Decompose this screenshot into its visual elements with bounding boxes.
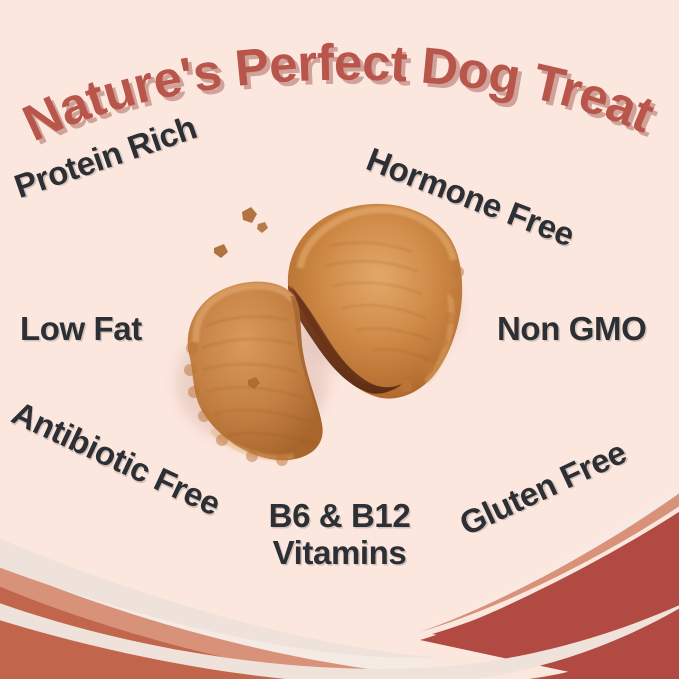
- vitamins-line-2: Vitamins: [0, 535, 679, 572]
- vitamins-line-1: B6 & B12: [0, 498, 679, 535]
- band-cream-swoosh: [0, 596, 679, 679]
- band-light-salmon-left: [0, 556, 440, 679]
- benefit-label-low-fat: Low Fat: [20, 311, 142, 348]
- benefit-label-non-gmo: Non GMO: [497, 311, 646, 348]
- product-image-dog-treat: [160, 190, 480, 480]
- benefit-label-vitamins: B6 & B12 Vitamins: [0, 498, 679, 572]
- band-terracotta-foreground: [0, 624, 679, 679]
- band-terracotta: [0, 578, 679, 679]
- band-brick-red-corner: [520, 618, 679, 679]
- poster-canvas: Nature's Perfect Dog Treat Nature's Perf…: [0, 0, 679, 679]
